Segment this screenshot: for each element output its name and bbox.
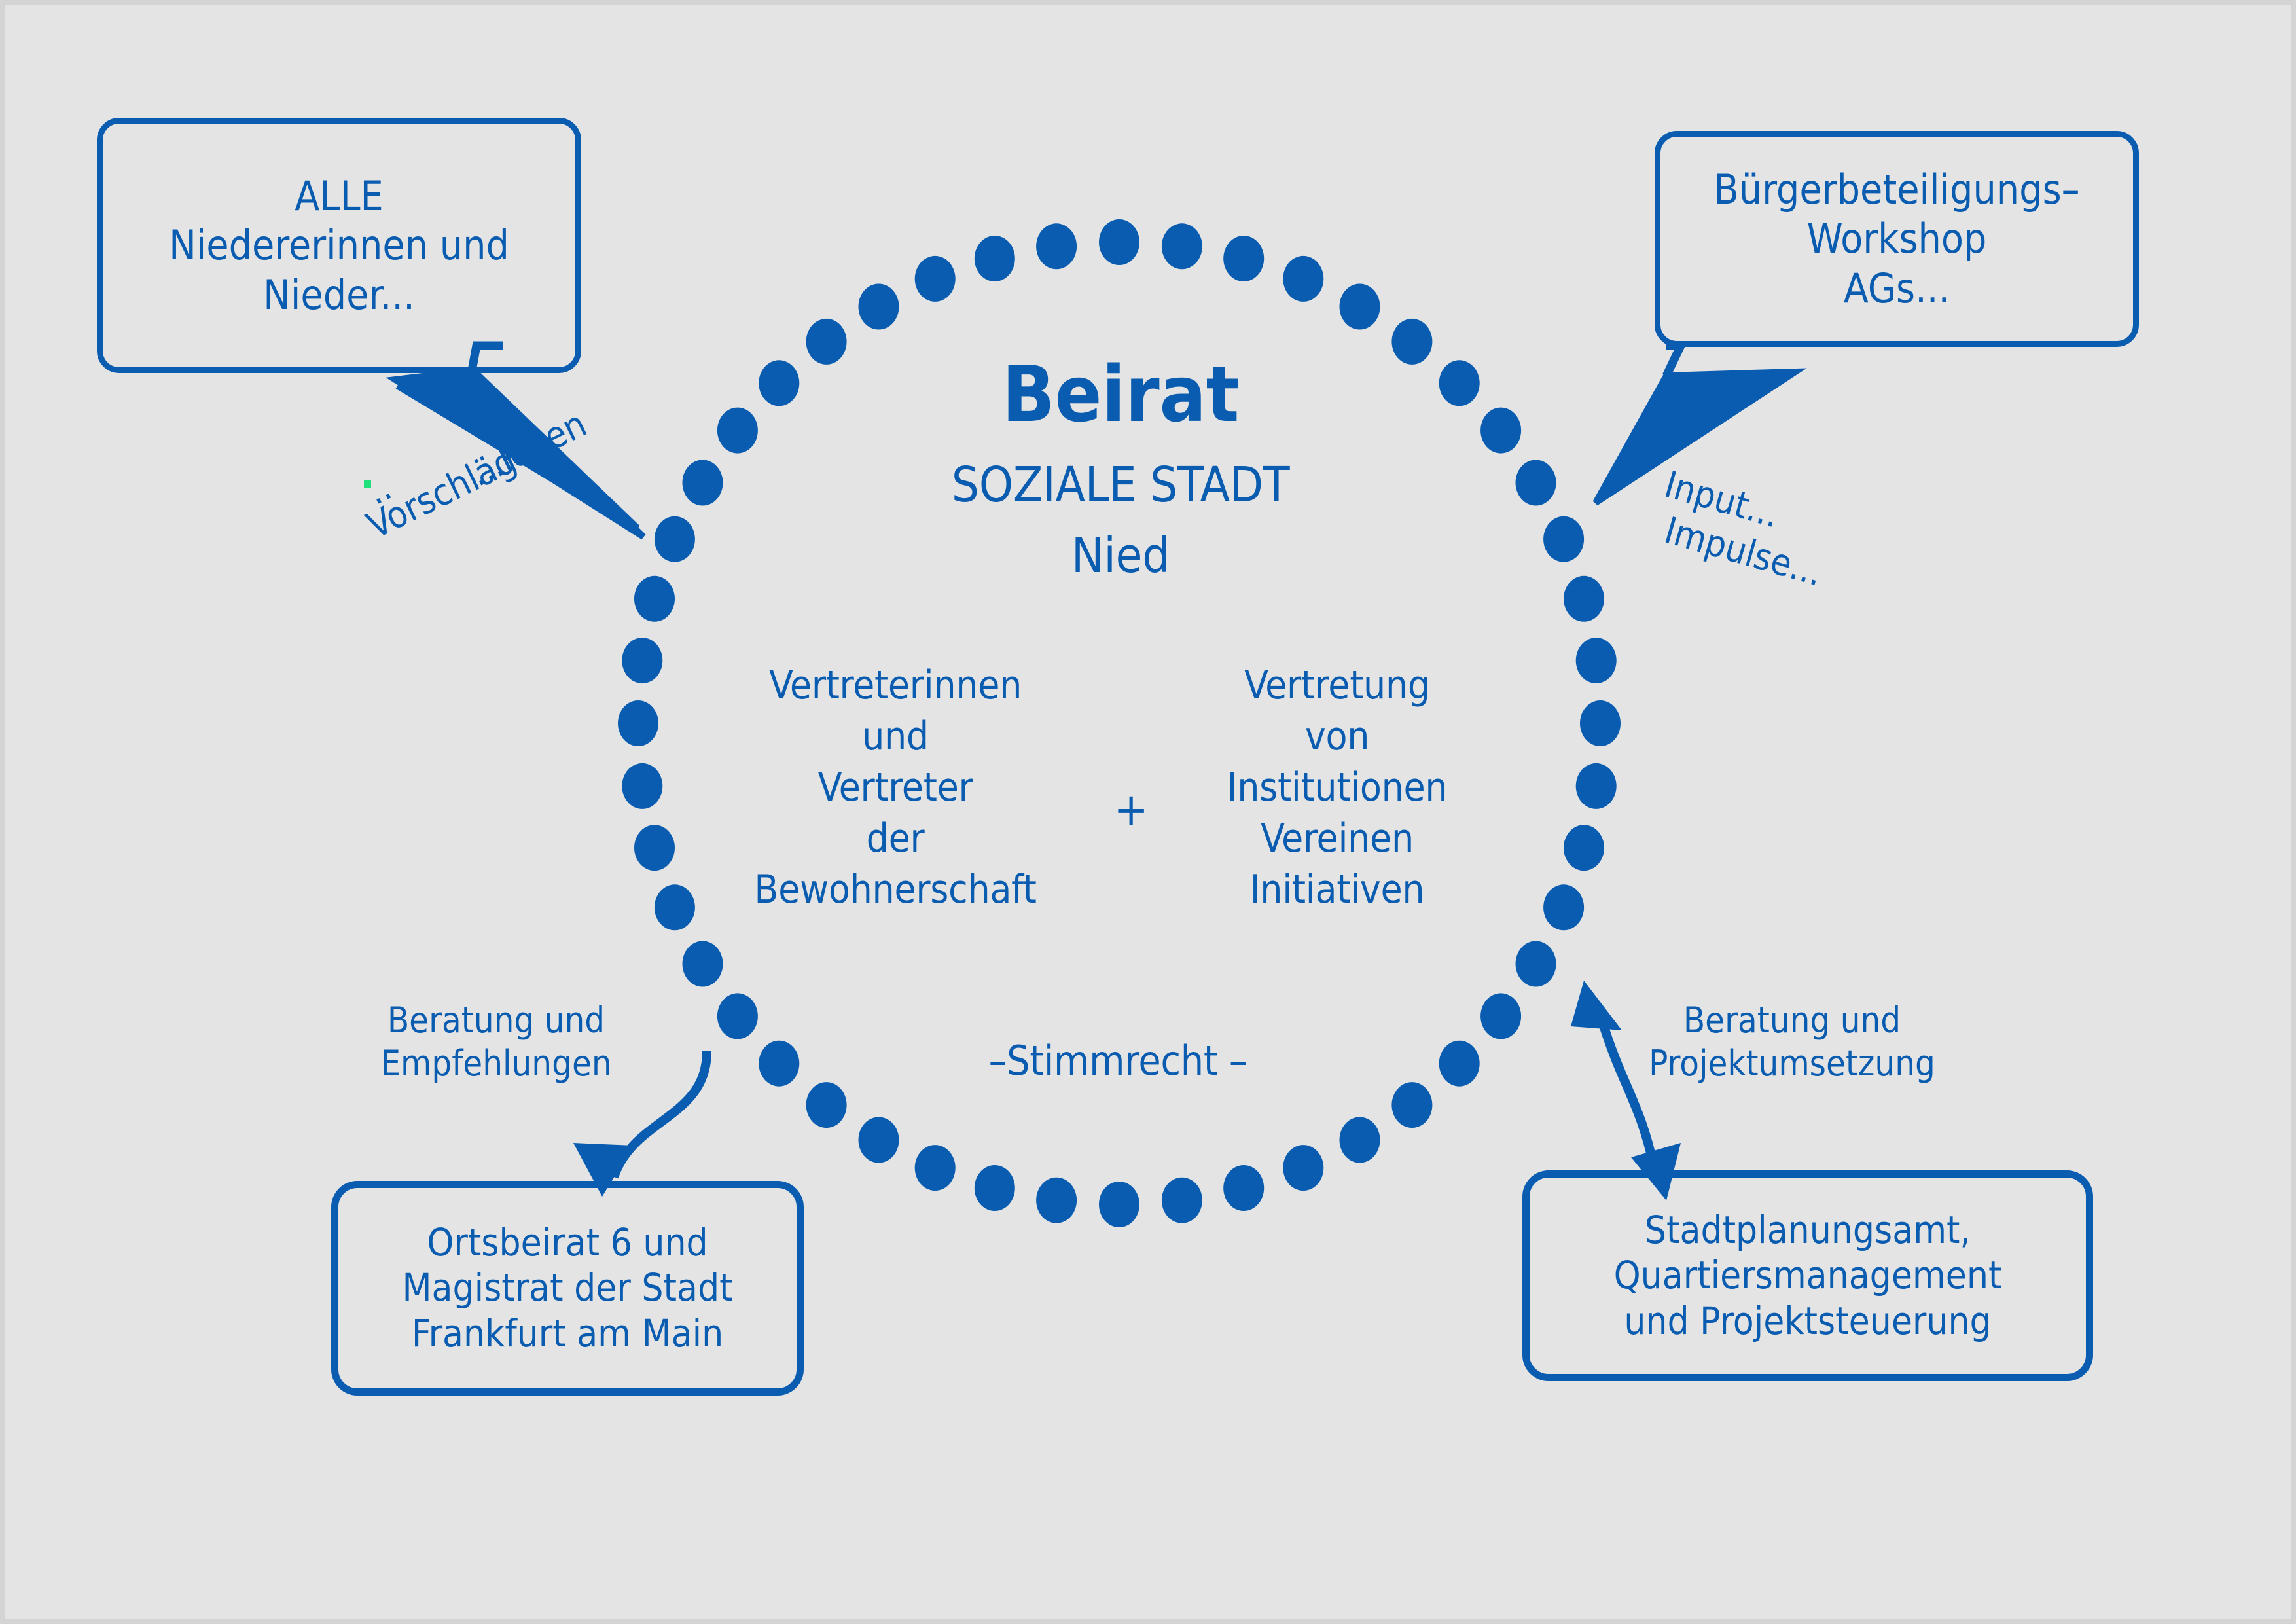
circle-dot [1480, 408, 1521, 454]
circle-dot [1340, 1117, 1380, 1163]
circle-dot [1580, 700, 1621, 746]
green-pixel-artifact [364, 480, 371, 488]
circle-dot [759, 1041, 799, 1087]
circle-dot [975, 1165, 1015, 1211]
circle-dot [1283, 1145, 1323, 1191]
circle-dot [1480, 993, 1521, 1039]
circle-dot [1543, 884, 1584, 930]
circle-dot [1564, 825, 1604, 871]
circle-dot [683, 941, 723, 987]
circle-dot [759, 360, 799, 406]
voting-rights-note: –Stimmrecht – [908, 1038, 1327, 1083]
box-bottom-right[interactable]: Stadtplanungsamt, Quartiersmanagement un… [1522, 1170, 2093, 1381]
box-bottom-left-label: Ortsbeirat 6 und Magistrat der Stadt Fra… [331, 1181, 804, 1396]
circle-dot [975, 236, 1015, 281]
circle-dot [1543, 516, 1584, 562]
center-location: Nied [819, 529, 1422, 583]
circle-dot [1340, 284, 1380, 330]
bubble-top-right-label: Bürgerbeteiligungs– Workshop AGs... [1655, 131, 2139, 347]
circle-dot [634, 576, 675, 622]
circle-dot [1576, 763, 1617, 809]
circle-dot [1036, 1178, 1077, 1223]
circle-dot [683, 460, 723, 506]
membership-column-institutions: Vertretung von Institutionen Vereinen In… [1177, 660, 1498, 915]
circle-dot [655, 884, 695, 930]
page-title: Beirat [819, 351, 1422, 437]
bubble-top-left[interactable]: ALLE Niedererinnen und Nieder... [97, 118, 581, 373]
diagram-canvas: Beirat SOZIALE STADT Nied Vertreterinnen… [5, 5, 2291, 1619]
circle-dot [1162, 223, 1202, 269]
bubble-top-right[interactable]: Bürgerbeteiligungs– Workshop AGs... [1655, 131, 2139, 347]
circle-dot [1516, 941, 1556, 987]
circle-dot [1223, 236, 1264, 281]
circle-dot [1564, 576, 1604, 622]
circle-dot [618, 700, 658, 746]
beratung-empfehlungen-label: Beratung und Empfehlungen [352, 999, 640, 1085]
plus-symbol: + [1092, 784, 1170, 835]
circle-dot [655, 516, 695, 562]
circle-dot [1283, 256, 1323, 302]
circle-dot [1036, 223, 1077, 269]
circle-dot [1439, 360, 1480, 406]
circle-dot [859, 1117, 899, 1163]
arrowhead-up-stadtplanungsamt [1571, 981, 1622, 1030]
box-bottom-left[interactable]: Ortsbeirat 6 und Magistrat der Stadt Fra… [331, 1181, 804, 1396]
circle-dot [717, 993, 758, 1039]
circle-dot [717, 408, 758, 454]
circle-dot [1099, 1182, 1139, 1227]
circle-dot [1162, 1178, 1202, 1223]
box-bottom-right-label: Stadtplanungsamt, Quartiersmanagement un… [1522, 1170, 2093, 1381]
membership-column-residents: Vertreterinnen und Vertreter der Bewohne… [712, 660, 1079, 915]
circle-dot [1223, 1165, 1264, 1211]
beratung-projektumsetzung-label: Beratung und Projektumsetzung [1628, 999, 1956, 1085]
circle-dot [1516, 460, 1556, 506]
circle-dot [1099, 219, 1139, 265]
circle-dot [1439, 1041, 1480, 1087]
circle-dot [859, 284, 899, 330]
center-subtitle: SOZIALE STADT [819, 458, 1422, 513]
circle-dot [622, 763, 662, 809]
circle-dot [915, 256, 956, 302]
circle-dot [915, 1145, 956, 1191]
circle-dot [634, 825, 675, 871]
bubble-top-left-label: ALLE Niedererinnen und Nieder... [97, 118, 581, 373]
circle-dot [1576, 638, 1617, 683]
circle-dot [622, 638, 662, 683]
circle-dot [1391, 1082, 1432, 1128]
circle-dot [806, 1082, 847, 1128]
bubble-tail-top-right [1666, 346, 1681, 376]
